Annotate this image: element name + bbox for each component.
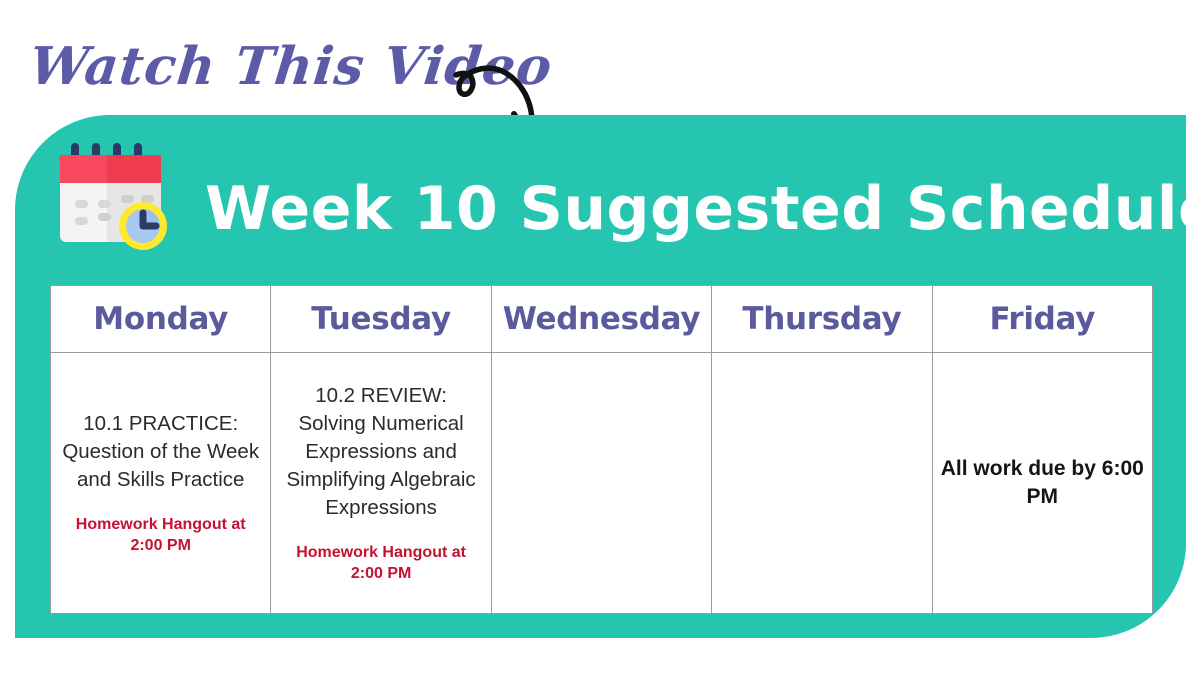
- column-header-thursday: Thursday: [712, 286, 932, 353]
- cell-friday-due-notice: All work due by 6:00 PM: [941, 455, 1144, 511]
- column-header-monday: Monday: [51, 286, 271, 353]
- column-header-friday: Friday: [932, 286, 1152, 353]
- cell-monday-assignment: 10.1 PRACTICE: Question of the Week and …: [59, 410, 262, 494]
- cell-tuesday-assignment: 10.2 REVIEW: Solving Numerical Expressio…: [279, 382, 482, 522]
- table-header-row: Monday Tuesday Wednesday Thursday Friday: [51, 286, 1153, 353]
- cell-tuesday-note: Homework Hangout at 2:00 PM: [279, 542, 482, 585]
- cell-wednesday: [491, 353, 711, 614]
- cell-tuesday: 10.2 REVIEW: Solving Numerical Expressio…: [271, 353, 491, 614]
- column-header-wednesday: Wednesday: [491, 286, 711, 353]
- page-title: Week 10 Suggested Schedule: [205, 166, 1155, 252]
- cell-monday-note: Homework Hangout at 2:00 PM: [59, 514, 262, 557]
- calendar-clock-icon: [55, 143, 175, 258]
- cell-monday: 10.1 PRACTICE: Question of the Week and …: [51, 353, 271, 614]
- cell-thursday: [712, 353, 932, 614]
- column-header-tuesday: Tuesday: [271, 286, 491, 353]
- table-row: 10.1 PRACTICE: Question of the Week and …: [51, 353, 1153, 614]
- weekly-schedule-table: Monday Tuesday Wednesday Thursday Friday…: [50, 285, 1153, 614]
- cell-friday: All work due by 6:00 PM: [932, 353, 1152, 614]
